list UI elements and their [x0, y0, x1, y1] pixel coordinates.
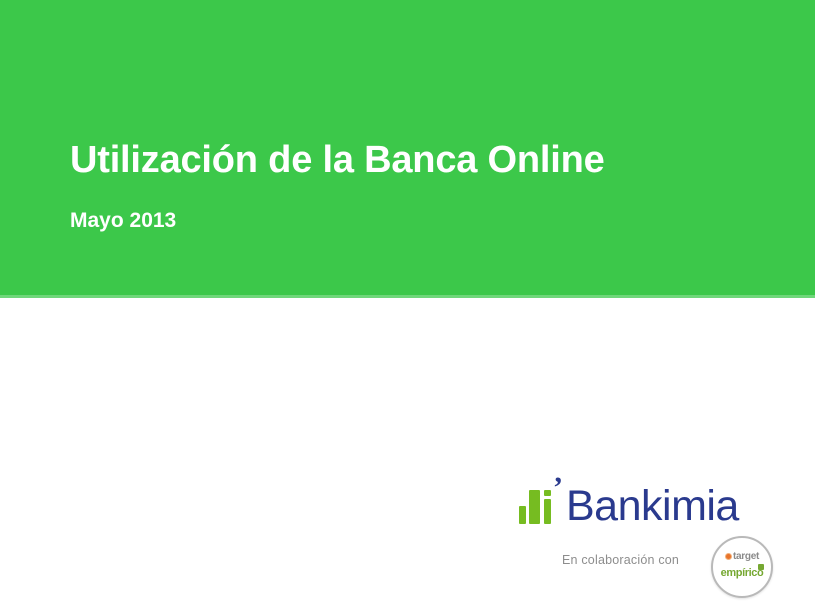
partner-spark-icon	[758, 564, 764, 570]
bar-chart-bar-2	[529, 490, 540, 524]
page-title: Utilización de la Banca Online	[70, 140, 605, 182]
bar-chart-icon: ’	[519, 482, 563, 528]
collaboration-label: En colaboración con	[562, 553, 679, 567]
bar-chart-tick	[544, 490, 551, 496]
bankimia-logo: ’ Bankimia	[519, 478, 739, 528]
target-dot-icon	[725, 553, 732, 560]
apostrophe-icon: ’	[553, 482, 562, 495]
presentation-slide: Utilización de la Banca Online Mayo 2013…	[0, 0, 815, 607]
title-band-edge	[0, 295, 815, 298]
bankimia-wordmark: Bankimia	[566, 484, 739, 528]
bar-chart-bar-1	[519, 506, 526, 524]
partner-name-target: target	[733, 551, 759, 562]
collaboration-row: En colaboración con target empírico	[560, 534, 780, 604]
bar-chart-bar-3	[544, 499, 551, 524]
partner-logo-top-line: target	[713, 551, 771, 562]
target-empirico-logo: target empírico	[711, 536, 773, 598]
slide-date-subtitle: Mayo 2013	[70, 208, 176, 233]
